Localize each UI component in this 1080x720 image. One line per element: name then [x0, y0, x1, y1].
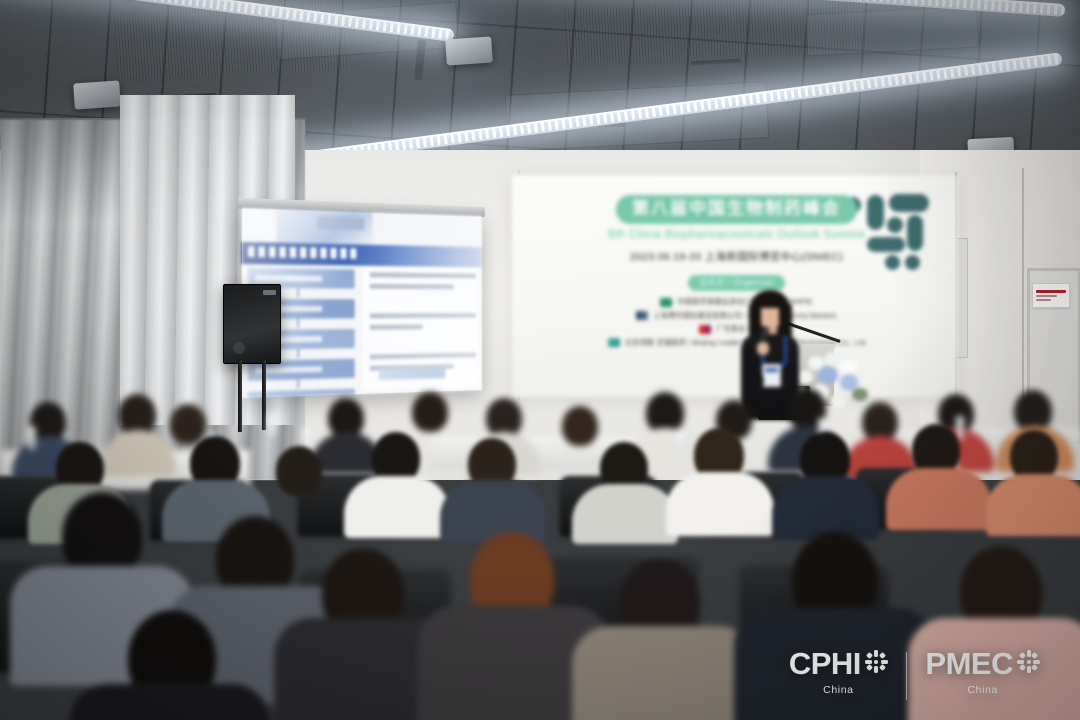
conference-photo: 第八届中国生物制药峰会 8th China Biopharmaceuticals…: [0, 0, 1080, 720]
flower: [840, 360, 857, 375]
cphi-wordmark: CPHI: [789, 648, 861, 679]
pmec-burst-icon: [1017, 650, 1040, 673]
pmec-region-label: China: [967, 684, 997, 696]
ceiling-panel: [805, 6, 979, 57]
cphi-logo-top: CPHI: [789, 648, 888, 679]
banner-title-cn: 第八届中国生物制药峰会: [616, 195, 857, 224]
medv-logo-icon: [699, 325, 711, 334]
cphi-region-label: China: [823, 684, 853, 696]
cphi-burst-icon: [865, 650, 888, 673]
audience-shoulder: [70, 684, 270, 720]
audience-shoulder: [572, 626, 756, 720]
organizer-label: 主办方 / Organizer: [688, 275, 785, 291]
speaker-cone: [233, 342, 245, 354]
banner-title-en: 8th China Biopharmaceuticals Outlook Sum…: [608, 229, 865, 241]
wall-sign-red: [1032, 283, 1070, 308]
ceiling-spotlight: [445, 36, 493, 65]
event-watermark-logo: CPHI China PMEC: [771, 648, 1058, 700]
pmec-logo: PMEC China: [907, 648, 1058, 696]
pmec-wordmark: PMEC: [925, 648, 1013, 679]
presenter-hand: [757, 342, 769, 355]
cphi-logo: CPHI China: [771, 648, 906, 696]
sign-line: [1036, 290, 1066, 293]
pmec-logo-top: PMEC: [925, 648, 1040, 679]
sign-line-small: [1036, 299, 1051, 301]
sign-line-small: [1036, 295, 1057, 297]
banner-date-venue: 2023.06.19-20 上海新国际博览中心(SNIEC): [630, 249, 843, 264]
pa-speaker: [223, 284, 281, 364]
speaker-brand-badge: [263, 290, 276, 295]
ceiling-spotlight: [73, 80, 121, 109]
leader-logo-icon: [608, 338, 620, 347]
cccmhpie-logo-icon: [660, 298, 672, 307]
sinoexpo-logo-icon: [636, 311, 648, 320]
